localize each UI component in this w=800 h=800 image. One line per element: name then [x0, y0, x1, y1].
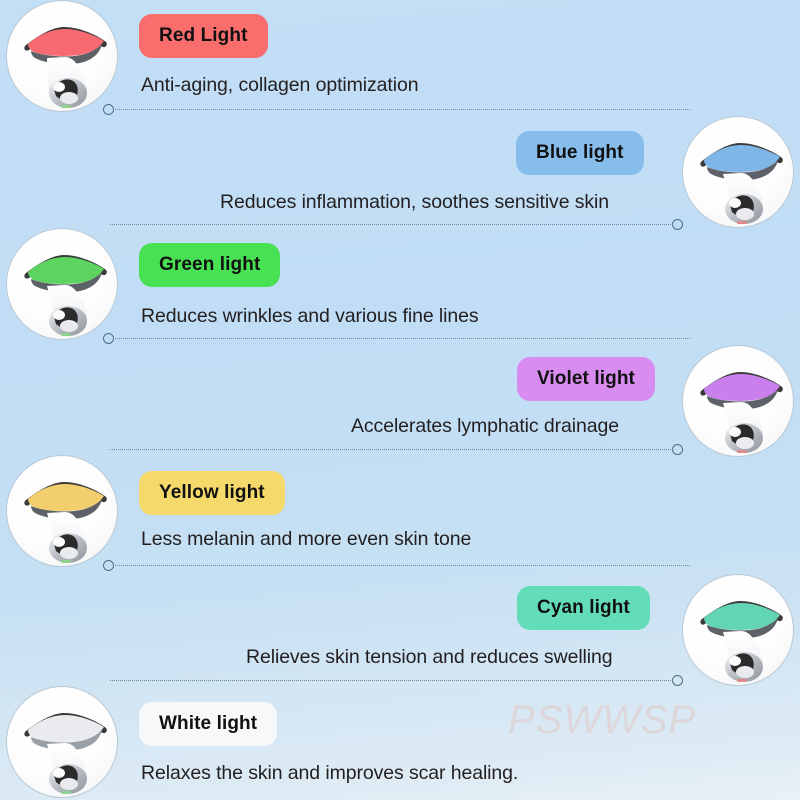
device-illustration-white: [7, 687, 118, 798]
watermark-text: PSWWSP: [508, 698, 696, 743]
device-thumbnail-white: [6, 686, 118, 798]
connector-dot-icon: [672, 444, 683, 455]
badge-blue-light[interactable]: Blue light: [516, 131, 644, 175]
badge-label: Violet light: [537, 368, 635, 390]
connector-line-yellow: [104, 560, 690, 572]
connector-line-violet: [110, 444, 682, 456]
device-illustration-green: [7, 229, 118, 340]
badge-violet-light[interactable]: Violet light: [517, 357, 655, 401]
badge-white-light[interactable]: White light: [139, 702, 277, 746]
description-white-light: Relaxes the skin and improves scar heali…: [141, 762, 518, 785]
connector-line-cyan: [110, 675, 682, 687]
device-illustration-blue: [683, 117, 794, 228]
badge-label: Blue light: [536, 142, 624, 164]
badge-label: White light: [159, 713, 257, 735]
device-illustration-red: [7, 1, 118, 112]
connector-dashes: [113, 109, 690, 110]
description-blue-light: Reduces inflammation, soothes sensitive …: [220, 191, 609, 214]
device-thumbnail-violet: [682, 345, 794, 457]
connector-dashes: [110, 449, 673, 450]
connector-line-red: [104, 104, 690, 116]
connector-dashes: [113, 565, 690, 566]
connector-dashes: [113, 338, 690, 339]
badge-yellow-light[interactable]: Yellow light: [139, 471, 285, 515]
device-thumbnail-yellow: [6, 455, 118, 567]
description-cyan-light: Relieves skin tension and reduces swelli…: [246, 646, 613, 669]
device-illustration-cyan: [683, 575, 794, 686]
badge-cyan-light[interactable]: Cyan light: [517, 586, 650, 630]
device-thumbnail-cyan: [682, 574, 794, 686]
connector-dashes: [110, 224, 673, 225]
badge-green-light[interactable]: Green light: [139, 243, 280, 287]
badge-label: Red Light: [159, 25, 248, 47]
connector-line-green: [104, 333, 690, 345]
device-illustration-violet: [683, 346, 794, 457]
badge-label: Yellow light: [159, 482, 265, 504]
connector-dot-icon: [672, 219, 683, 230]
description-red-light: Anti-aging, collagen optimization: [141, 74, 418, 97]
connector-dashes: [110, 680, 673, 681]
description-green-light: Reduces wrinkles and various fine lines: [141, 305, 479, 328]
description-violet-light: Accelerates lymphatic drainage: [351, 415, 619, 438]
description-yellow-light: Less melanin and more even skin tone: [141, 528, 471, 551]
badge-label: Green light: [159, 254, 260, 276]
badge-label: Cyan light: [537, 597, 630, 619]
connector-line-blue: [110, 219, 682, 231]
device-illustration-yellow: [7, 456, 118, 567]
connector-dot-icon: [672, 675, 683, 686]
infographic-canvas: Red Light Anti-aging, collagen optimizat…: [0, 0, 800, 800]
badge-red-light[interactable]: Red Light: [139, 14, 268, 58]
device-thumbnail-red: [6, 0, 118, 112]
device-thumbnail-green: [6, 228, 118, 340]
device-thumbnail-blue: [682, 116, 794, 228]
